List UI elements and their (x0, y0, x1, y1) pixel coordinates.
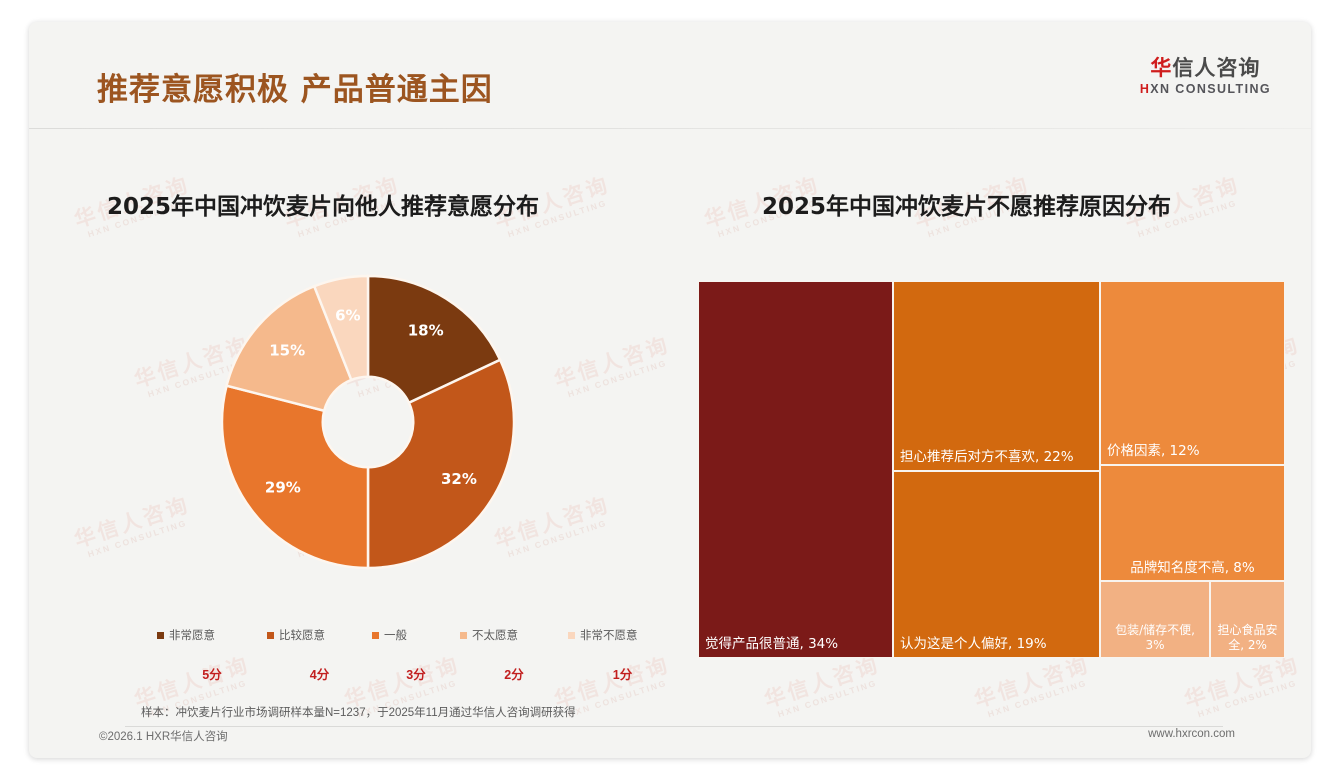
treemap-chart: 觉得产品很普通, 34%担心推荐后对方不喜欢, 22%认为这是个人偏好, 19%… (698, 281, 1285, 658)
watermark-chinese: 华信人咨询 (1182, 654, 1303, 712)
watermark-text: 华信人咨询HXN CONSULTING (552, 334, 676, 402)
donut-slice-value: 32% (441, 470, 477, 488)
slide-footer: ©2026.1 HXR华信人咨询 www.hxrcon.com (29, 716, 1311, 758)
watermark-chinese: 华信人咨询 (72, 494, 193, 552)
legend-label: 非常愿意 (169, 627, 215, 643)
watermark-text: 华信人咨询HXN CONSULTING (762, 654, 886, 722)
legend-swatch-icon (568, 632, 575, 639)
treemap-tile-label: 包装/储存不便, 3% (1104, 623, 1206, 653)
slide-canvas: 华信人咨询HXN CONSULTING华信人咨询HXN CONSULTING华信… (29, 22, 1311, 758)
donut-chart-svg: 18%32%29%15%6% (222, 276, 514, 568)
company-logo: 华信人咨询 HXN CONSULTING (1140, 58, 1271, 96)
legend-item[interactable]: 非常不愿意 (568, 626, 677, 644)
donut-chart: 18%32%29%15%6% (222, 276, 514, 568)
logo-english-red: H (1140, 82, 1150, 96)
page-title: 推荐意愿积极 产品普通主因 (97, 64, 493, 109)
logo-english: HXN CONSULTING (1140, 83, 1271, 96)
treemap-tile-label: 认为这是个人偏好, 19% (900, 636, 1094, 653)
treemap-tile[interactable]: 品牌知名度不高, 8% (1100, 465, 1285, 581)
legend-label: 一般 (384, 627, 407, 643)
score-label: 5分 (157, 664, 267, 684)
slide-header: 推荐意愿积极 产品普通主因 华信人咨询 HXN CONSULTING (29, 22, 1311, 128)
donut-slice[interactable] (368, 360, 514, 568)
header-divider (29, 128, 1311, 129)
logo-english-rest: XN CONSULTING (1150, 82, 1271, 96)
logo-chinese-rest: 信人咨询 (1172, 56, 1260, 80)
donut-slices (222, 276, 514, 568)
logo-chinese-red: 华 (1150, 56, 1172, 80)
watermark-english: HXN CONSULTING (1189, 675, 1306, 722)
left-chart-title: 2025年中国冲饮麦片向他人推荐意愿分布 (107, 187, 539, 221)
legend-item[interactable]: 比较愿意 (267, 626, 372, 644)
watermark-english: HXN CONSULTING (499, 515, 616, 562)
treemap-tile[interactable]: 觉得产品很普通, 34% (698, 281, 893, 658)
donut-slice-value: 18% (408, 322, 444, 340)
watermark-english: HXN CONSULTING (979, 675, 1096, 722)
watermark-text: 华信人咨询HXN CONSULTING (972, 654, 1096, 722)
score-label: 2分 (460, 664, 568, 684)
legend-label: 比较愿意 (279, 627, 325, 643)
watermark-english: HXN CONSULTING (769, 675, 886, 722)
score-label: 1分 (568, 664, 677, 684)
donut-slice-value: 6% (335, 307, 360, 325)
score-label: 4分 (267, 664, 372, 684)
legend-item[interactable]: 一般 (372, 626, 460, 644)
legend-label: 不太愿意 (472, 627, 518, 643)
watermark-text: 华信人咨询HXN CONSULTING (72, 494, 196, 562)
legend-item[interactable]: 不太愿意 (460, 626, 568, 644)
donut-legend: 非常愿意比较愿意一般不太愿意非常不愿意 (157, 626, 677, 644)
treemap-tile-label: 觉得产品很普通, 34% (705, 636, 887, 653)
treemap-tile[interactable]: 担心食品安全, 2% (1210, 581, 1285, 658)
donut-slice[interactable] (222, 386, 368, 568)
watermark-text: 华信人咨询HXN CONSULTING (1182, 654, 1306, 722)
legend-swatch-icon (157, 632, 164, 639)
score-label: 3分 (372, 664, 460, 684)
watermark-chinese: 华信人咨询 (552, 334, 673, 392)
watermark-chinese: 华信人咨询 (972, 654, 1093, 712)
logo-chinese: 华信人咨询 (1140, 58, 1271, 79)
treemap-tile[interactable]: 认为这是个人偏好, 19% (893, 471, 1100, 658)
donut-slice-value: 15% (269, 341, 305, 359)
legend-label: 非常不愿意 (580, 627, 638, 643)
legend-item[interactable]: 非常愿意 (157, 626, 267, 644)
treemap-tile[interactable]: 价格因素, 12% (1100, 281, 1285, 465)
treemap-tile-label: 担心食品安全, 2% (1214, 623, 1281, 653)
watermark-english: HXN CONSULTING (79, 515, 196, 562)
treemap-tile-label: 担心推荐后对方不喜欢, 22% (900, 449, 1094, 466)
legend-swatch-icon (460, 632, 467, 639)
legend-swatch-icon (267, 632, 274, 639)
watermark-chinese: 华信人咨询 (762, 654, 883, 712)
right-chart-title: 2025年中国冲饮麦片不愿推荐原因分布 (762, 187, 1171, 221)
footer-copyright: ©2026.1 HXR华信人咨询 (99, 728, 228, 744)
legend-swatch-icon (372, 632, 379, 639)
donut-slice-value: 29% (265, 479, 301, 497)
score-scale-row: 5分4分3分2分1分 (157, 664, 677, 684)
footer-website-url: www.hxrcon.com (1148, 728, 1235, 740)
treemap-tile-label: 品牌知名度不高, 8% (1104, 560, 1281, 577)
watermark-english: HXN CONSULTING (559, 355, 676, 402)
treemap-tile-label: 价格因素, 12% (1107, 443, 1279, 460)
treemap-tile[interactable]: 包装/储存不便, 3% (1100, 581, 1210, 658)
treemap-tile[interactable]: 担心推荐后对方不喜欢, 22% (893, 281, 1100, 471)
